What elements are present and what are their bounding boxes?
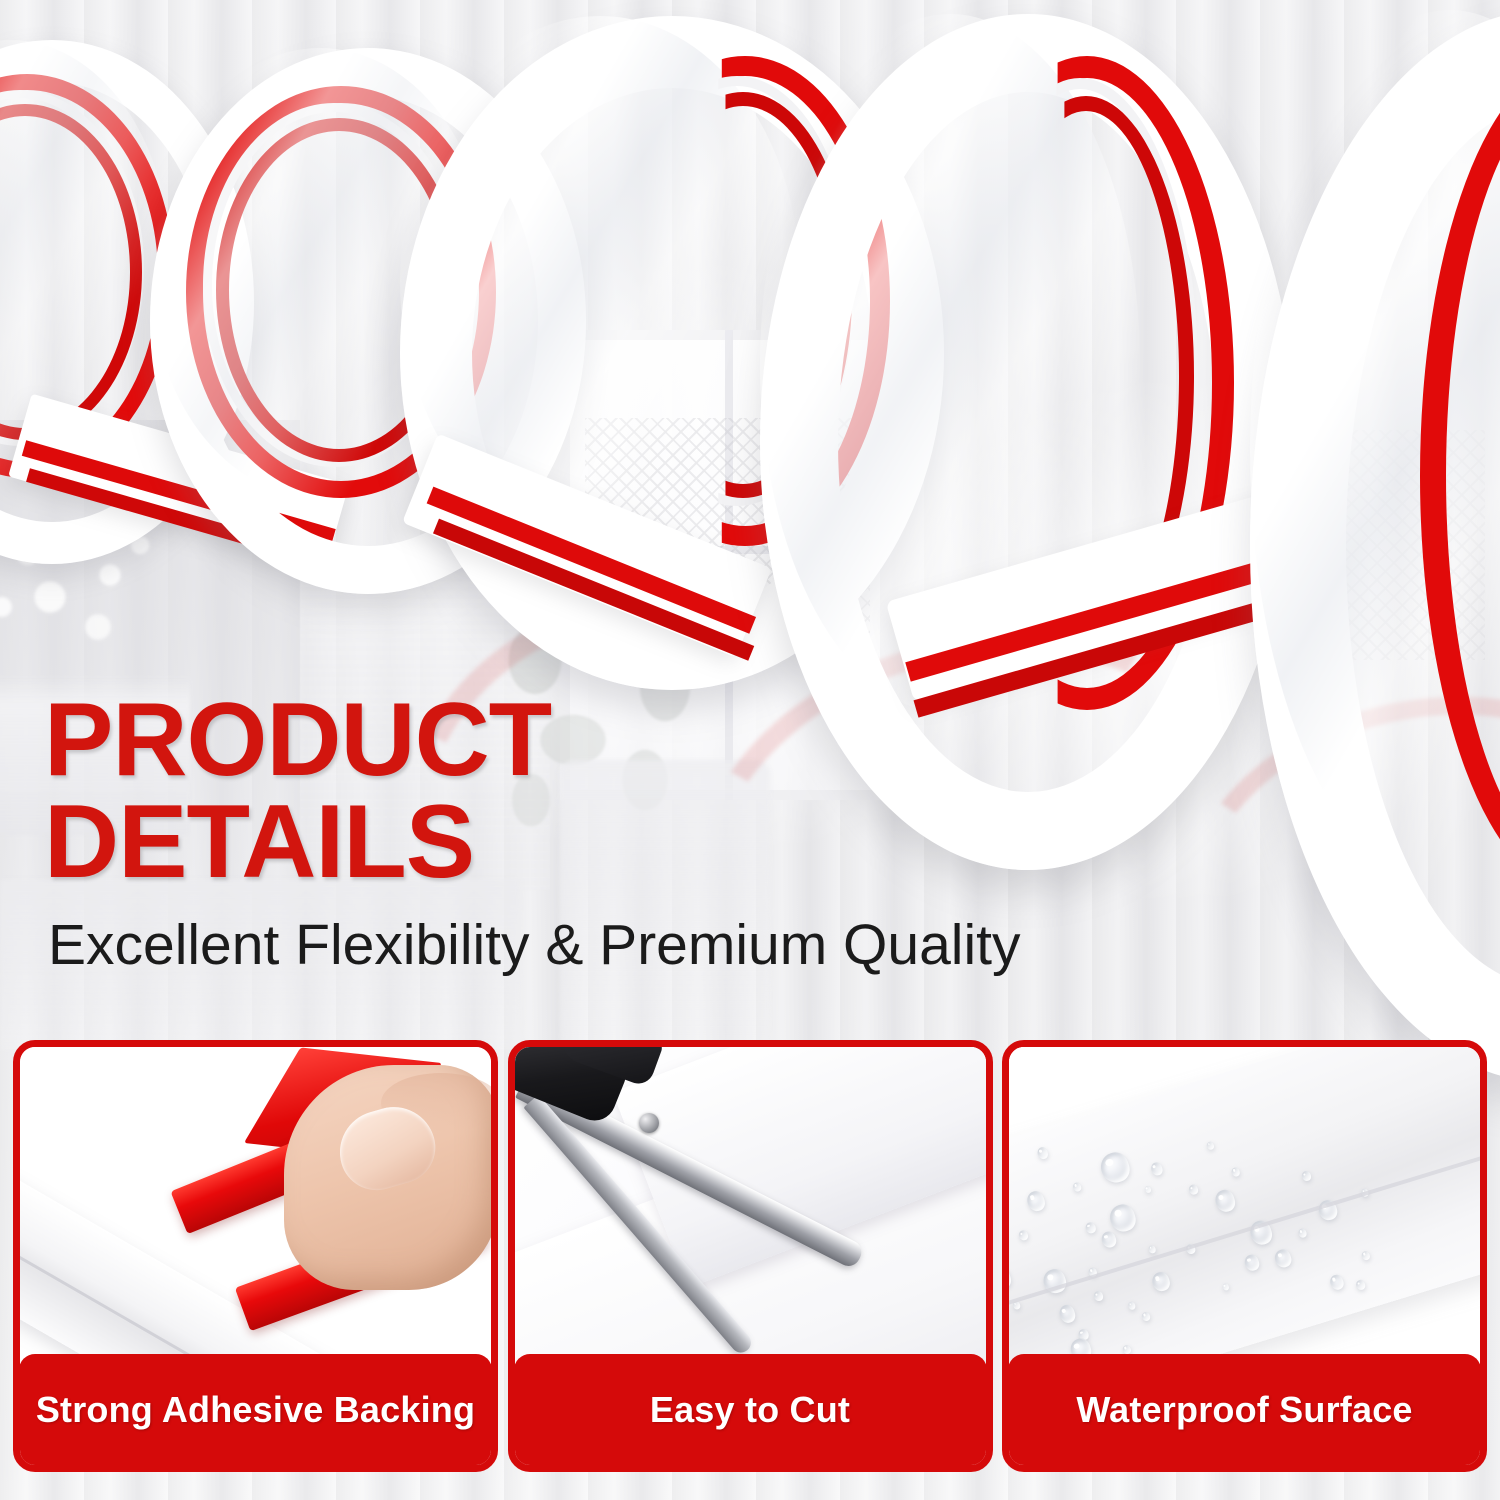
headline-block: PRODUCT DETAILS Excellent Flexibility & … <box>44 690 1224 976</box>
panel-image-cut <box>515 1047 986 1369</box>
feature-panel-adhesive[interactable]: Strong Adhesive Backing <box>13 1040 498 1472</box>
headline-subtitle: Excellent Flexibility & Premium Quality <box>48 916 1224 976</box>
panel-caption-label: Strong Adhesive Backing <box>36 1389 475 1431</box>
panel-caption-waterproof: Waterproof Surface <box>1008 1354 1481 1466</box>
feature-panel-cut[interactable]: Easy to Cut <box>508 1040 993 1472</box>
product-details-poster: PRODUCT DETAILS Excellent Flexibility & … <box>0 0 1500 1500</box>
panel-caption-label: Easy to Cut <box>650 1389 850 1431</box>
panel-image-adhesive <box>20 1047 491 1369</box>
panel-caption-label: Waterproof Surface <box>1076 1389 1412 1431</box>
panel-caption-cut: Easy to Cut <box>514 1354 987 1466</box>
panel-image-waterproof <box>1009 1047 1480 1369</box>
panel-caption-adhesive: Strong Adhesive Backing <box>19 1354 492 1466</box>
feature-panels: Strong Adhesive Backing Easy to Cut <box>0 1040 1500 1480</box>
feature-panel-waterproof[interactable]: Waterproof Surface <box>1002 1040 1487 1472</box>
scissors-pivot-screw <box>639 1113 659 1133</box>
page-title: PRODUCT DETAILS <box>44 690 1224 894</box>
headline-line-1: PRODUCT <box>44 682 551 798</box>
headline-line-2: DETAILS <box>44 792 1224 894</box>
